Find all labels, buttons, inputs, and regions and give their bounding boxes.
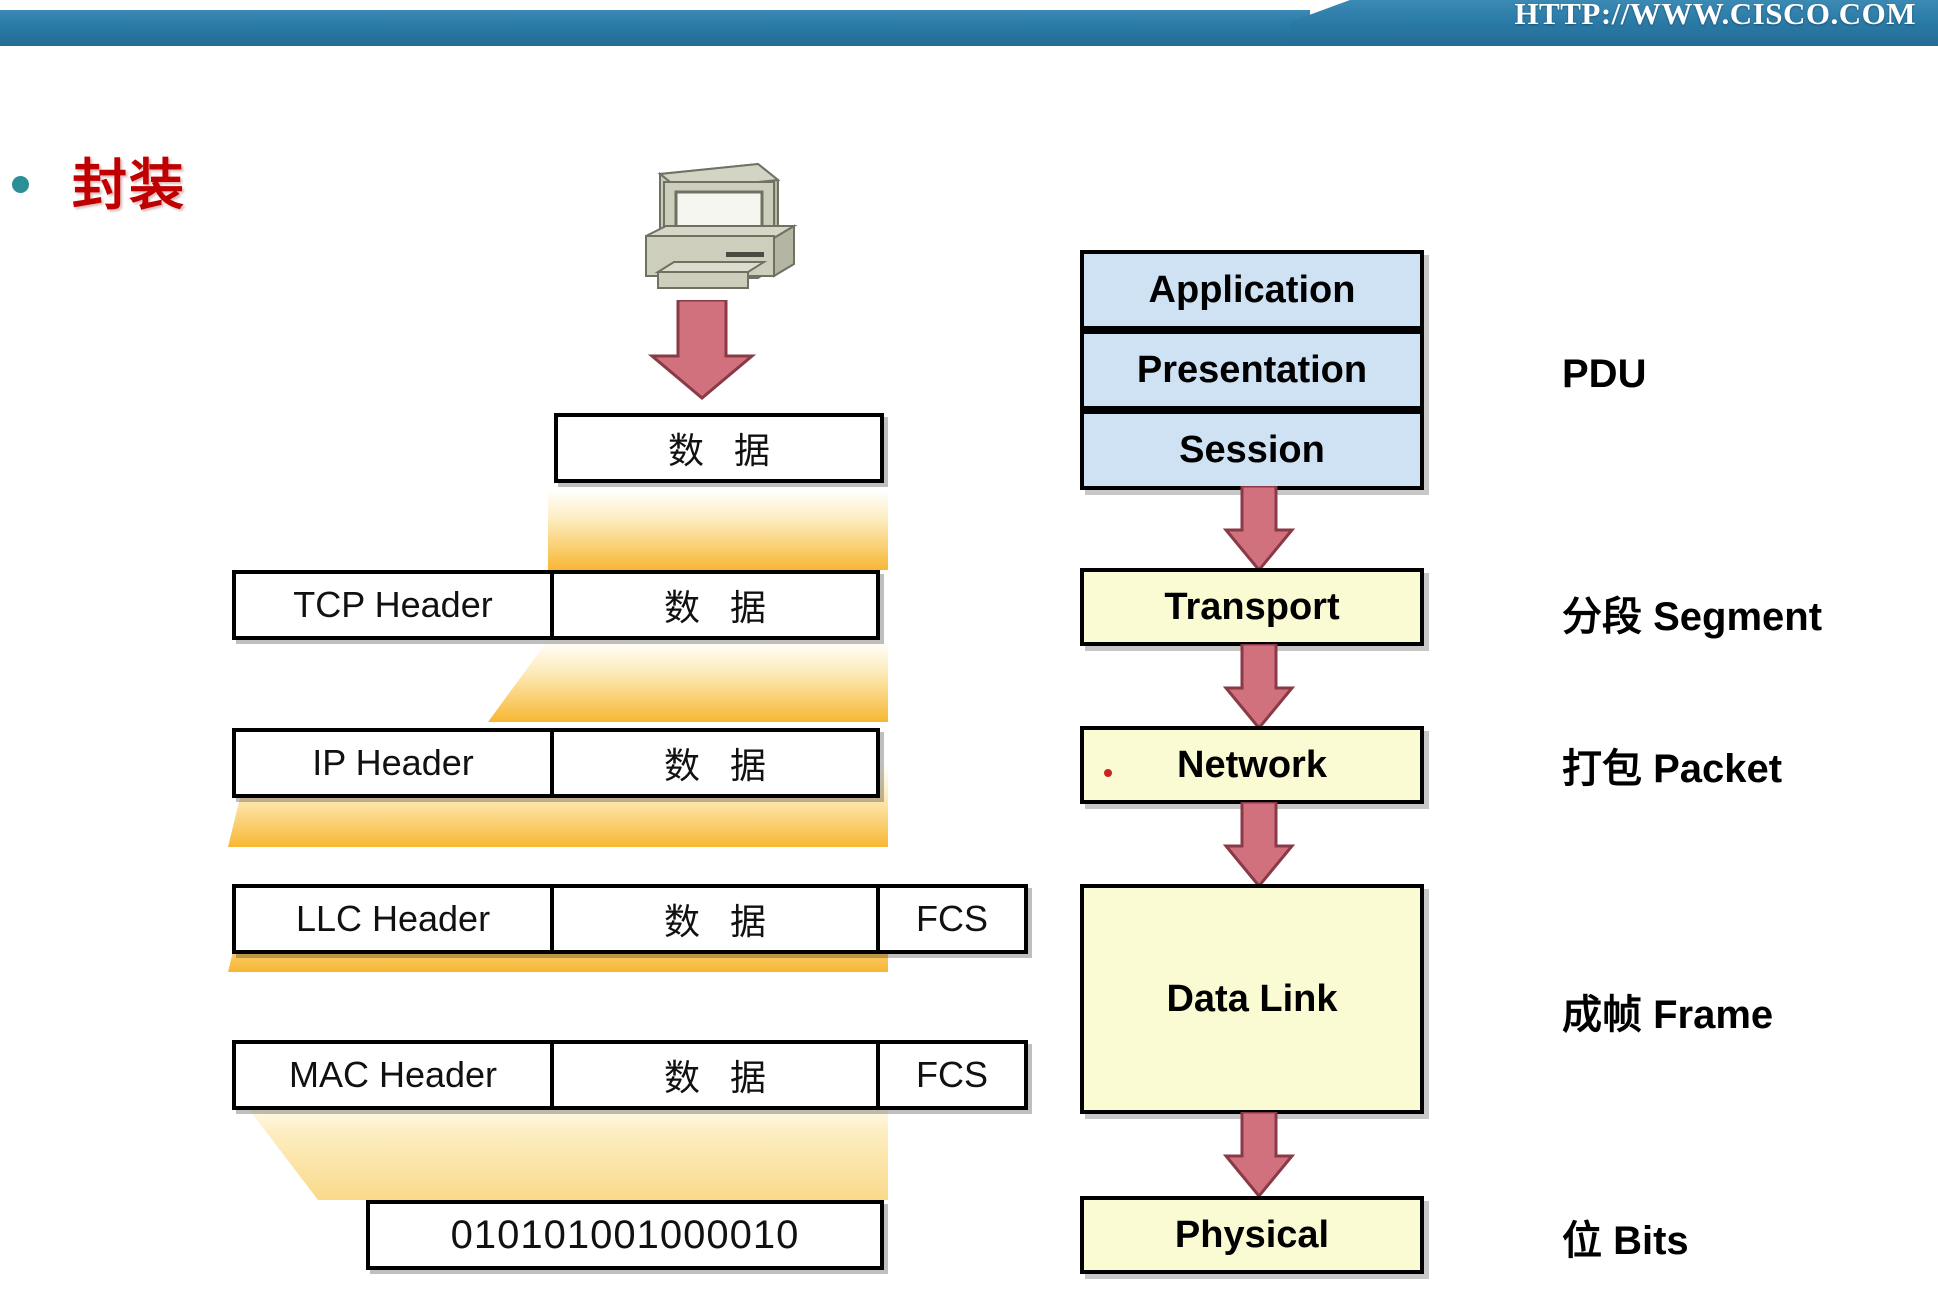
arrow-computer-to-data [648,300,756,400]
cell-fcs: FCS [876,884,1028,954]
enc-row-llc: LLC Header 数 据 FCS [232,884,1028,954]
enc-row-ip: IP Header 数 据 [232,728,880,798]
cisco-url-text: HTTP://WWW.CISCO.COM [1514,0,1916,32]
arrow-network-to-datalink [1222,802,1296,888]
cell-tcp-header: TCP Header [232,570,554,640]
header-banner: HTTP://WWW.CISCO.COM [0,10,1938,46]
arrow-session-to-transport [1222,486,1296,572]
page-title: 封装 [72,140,186,220]
osi-layer-network: Network [1080,726,1424,804]
cell-bits: 010101001000010 [366,1200,884,1270]
osi-layer-presentation: Presentation [1080,330,1424,410]
bullet-icon [12,176,29,193]
pdu-label-packet: 打包 Packet [1562,736,1782,794]
osi-layer-physical: Physical [1080,1196,1424,1274]
cell-data: 数 据 [554,413,884,483]
enc-row-bits: 010101001000010 [366,1200,884,1270]
cell-fcs: FCS [876,1040,1028,1110]
pdu-label-segment: 分段 Segment [1562,584,1822,642]
network-red-dot-icon [1104,769,1112,777]
arrow-transport-to-network [1222,644,1296,730]
enc-row-tcp: TCP Header 数 据 [232,570,880,640]
wedge-tcp-to-ip [248,640,888,722]
cell-data: 数 据 [550,1040,880,1110]
wedge-mac-to-bits [228,1095,888,1200]
osi-layer-session: Session [1080,410,1424,490]
osi-layer-application: Application [1080,250,1424,330]
enc-row-mac: MAC Header 数 据 FCS [232,1040,1028,1110]
cell-mac-header: MAC Header [232,1040,554,1110]
osi-layer-datalink: Data Link [1080,884,1424,1114]
cell-data: 数 据 [550,728,880,798]
cell-data: 数 据 [550,570,880,640]
enc-row-data: 数 据 [554,413,884,483]
osi-layer-transport: Transport [1080,568,1424,646]
cell-llc-header: LLC Header [232,884,554,954]
banner-left-stripe [0,10,1310,46]
cell-data: 数 据 [550,884,880,954]
banner-right-block: HTTP://WWW.CISCO.COM [1290,0,1938,46]
pdu-label-pdu: PDU [1562,352,1646,397]
cell-ip-header: IP Header [232,728,554,798]
wedge-data-to-tcp [548,490,888,570]
arrow-datalink-to-physical [1222,1112,1296,1198]
pdu-label-bits: 位 Bits [1562,1208,1689,1266]
pdu-label-frame: 成帧 Frame [1562,982,1773,1040]
desktop-computer-icon [640,160,800,295]
